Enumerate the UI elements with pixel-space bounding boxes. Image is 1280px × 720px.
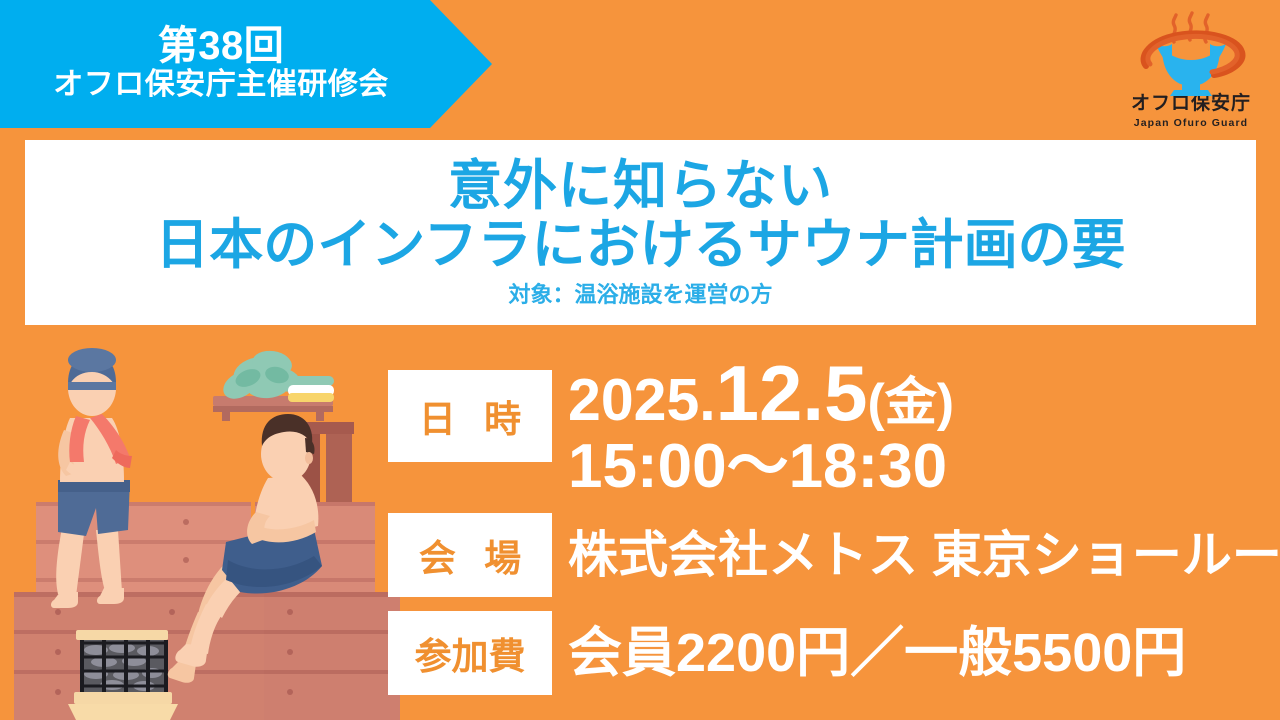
poster: 第38回 オフロ保安庁主催研修会 (0, 0, 1280, 720)
datetime-label: 日 時 (388, 370, 552, 462)
title-line-1: 意外に知らない (448, 158, 833, 215)
detail-row-datetime: 日 時 2025.12.5(金) 15:00〜18:30 (388, 370, 1268, 499)
banner-edition: 第38回 (158, 25, 285, 68)
datetime-time: 15:00〜18:30 (568, 434, 954, 499)
ofuro-guard-logo-icon (1116, 4, 1266, 96)
datetime-year: 2025. (568, 367, 716, 433)
datetime-monthday: 12.5 (716, 349, 868, 437)
organization-logo: オフロ保安庁 Japan Ofuro Guard (1116, 4, 1266, 136)
datetime-dayofweek: (金) (867, 374, 954, 432)
datetime-values: 2025.12.5(金) 15:00〜18:30 (568, 354, 954, 499)
title-line-2: 日本のインフラにおけるサウナ計画の要 (155, 217, 1125, 274)
datetime-date: 2025.12.5(金) (568, 354, 954, 432)
sauna-stove-with-rocks (68, 630, 178, 720)
fee-value: 会員2200円／一般5500円 (568, 611, 1186, 695)
event-edition-banner: 第38回 オフロ保安庁主催研修会 (0, 0, 492, 128)
fee-label: 参加費 (388, 611, 552, 695)
venue-label: 会 場 (388, 513, 552, 597)
title-panel: 意外に知らない 日本のインフラにおけるサウナ計画の要 対象：温浴施設を運営の方 (25, 140, 1256, 325)
detail-row-venue: 会 場 株式会社メトス 東京ショールーム (388, 513, 1268, 597)
logo-name-en: Japan Ofuro Guard (1116, 117, 1266, 129)
detail-row-fee: 参加費 会員2200円／一般5500円 (388, 611, 1268, 695)
banner-organizer: オフロ保安庁主催研修会 (53, 68, 389, 103)
event-details: 日 時 2025.12.5(金) 15:00〜18:30 会 場 株式会社メトス… (388, 370, 1268, 695)
logo-name-jp: オフロ保安庁 (1116, 94, 1266, 115)
title-subtitle: 対象：温浴施設を運営の方 (508, 283, 772, 307)
venue-value: 株式会社メトス 東京ショールーム (568, 513, 1280, 597)
sauna-scene-illustration (0, 330, 400, 720)
